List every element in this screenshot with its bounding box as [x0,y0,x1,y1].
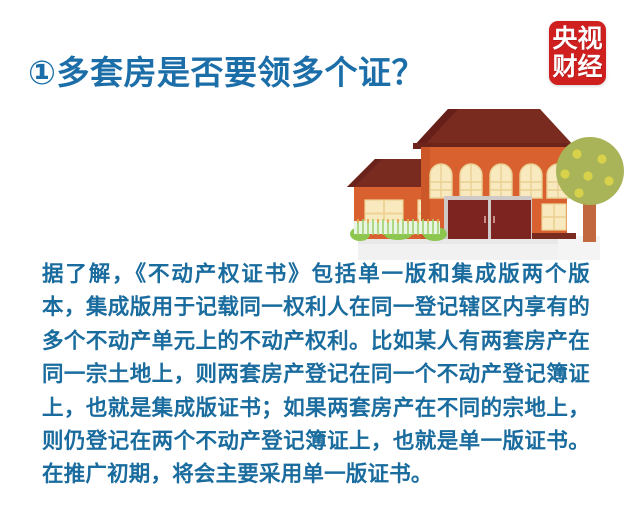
page-title: ①多套房是否要领多个证？ [28,53,425,93]
lower-window-right [542,204,566,230]
garage-door-handle-left [484,216,486,223]
base-ledge [528,233,576,239]
logo-line-2: 财经 [552,53,602,81]
tree-fruit-3 [560,169,569,178]
tree-fruit-2 [597,154,606,163]
garage-doors [444,196,532,239]
article-body: 据了解，《不动产权证书》包括单一版和集成版两个版本，集成版用于记载同一权利人在同… [42,258,590,492]
tree-fruit-6 [574,188,583,197]
upper-window-1 [430,164,452,198]
upper-window-2 [460,164,482,198]
body-paragraph: 据了解，《不动产权证书》包括单一版和集成版两个版本，集成版用于记载同一权利人在同… [42,258,590,492]
garage-door-right [491,200,531,239]
upper-windows [430,164,569,198]
upper-window-4 [520,164,542,198]
upper-window-3 [490,164,512,198]
cctv-finance-logo: 央视 财经 [549,21,606,85]
tree-fruit-5 [604,176,613,185]
logo-line-1: 央视 [552,25,602,53]
garage-door-handle-right [493,216,495,223]
house-illustration [330,88,626,260]
tree-fruit-1 [572,149,581,158]
tree-fruit-4 [583,171,592,180]
garage-door-left [448,200,488,239]
hedge-fence [350,219,447,241]
